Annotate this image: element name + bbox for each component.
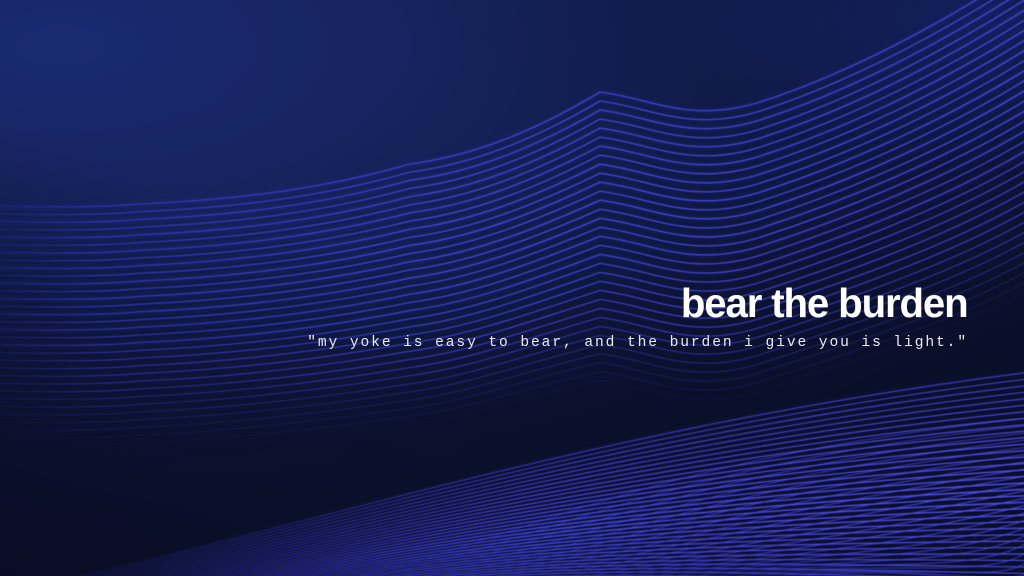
hero-canvas: bear the burden "my yoke is easy to bear… [0,0,1024,576]
decorative-wave-lines [0,0,1024,576]
